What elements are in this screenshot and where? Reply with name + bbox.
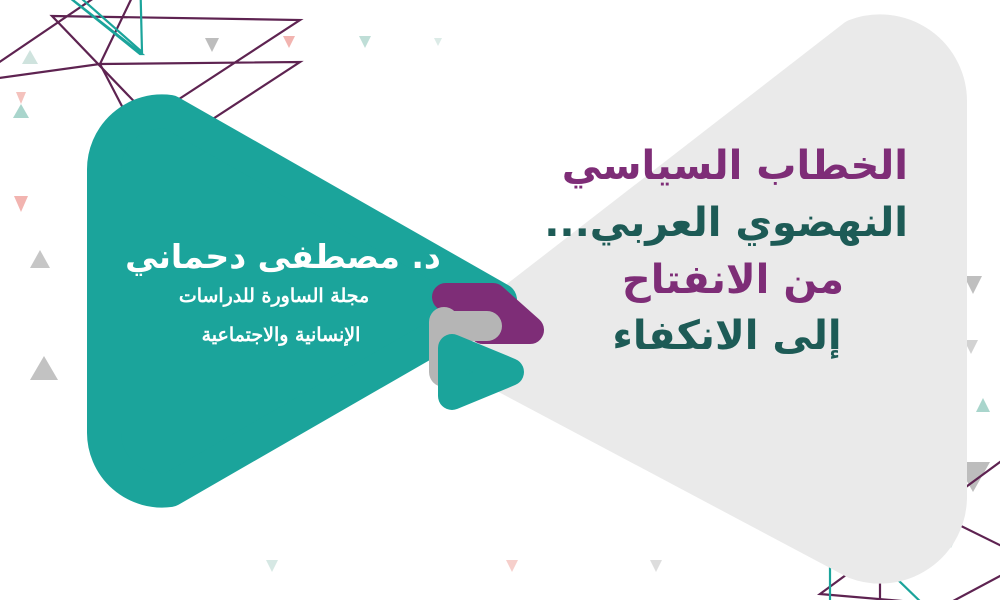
title-card-slide: الخطاب السياسي النهضوي العربي... من الان… bbox=[0, 0, 1000, 600]
journal-name-line-1: مجلة الساورة للدراسات bbox=[118, 277, 448, 316]
title-line-1: الخطاب السياسي bbox=[568, 138, 908, 195]
author-name: د. مصطفى دحماني bbox=[118, 236, 448, 277]
article-title: الخطاب السياسي النهضوي العربي... من الان… bbox=[568, 138, 908, 365]
title-line-2: النهضوي العربي... bbox=[568, 195, 908, 252]
journal-name-line-2: الإنسانية والاجتماعية bbox=[118, 316, 448, 355]
author-info: د. مصطفى دحماني مجلة الساورة للدراسات ال… bbox=[118, 236, 448, 355]
teal-play-triangle-icon bbox=[452, 348, 510, 396]
title-line-3: من الانفتاح bbox=[568, 252, 908, 309]
title-line-4: إلى الانكفاء bbox=[568, 308, 908, 365]
